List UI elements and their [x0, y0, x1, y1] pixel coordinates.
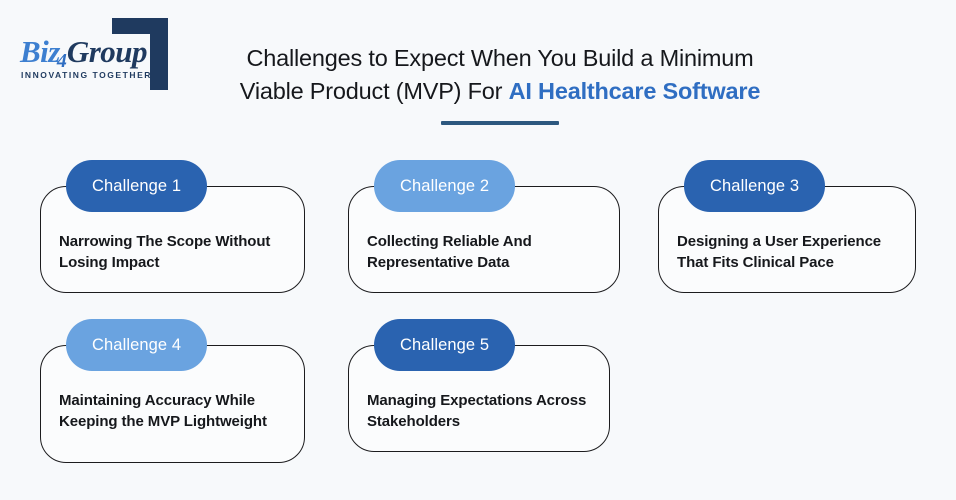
challenge-card-text: Designing a User Experience That Fits Cl…	[677, 231, 899, 274]
logo-tagline: INNOVATING TOGETHER	[21, 70, 152, 80]
logo-text-four: 4	[57, 50, 67, 72]
challenge-card[interactable]: Challenge 5 Managing Expectations Across…	[348, 345, 610, 452]
logo-text-biz: Biz	[20, 34, 60, 69]
challenge-card[interactable]: Challenge 3 Designing a User Experience …	[658, 186, 916, 293]
challenge-card[interactable]: Challenge 4 Maintaining Accuracy While K…	[40, 345, 305, 463]
challenge-card-text: Managing Expectations Across Stakeholder…	[367, 390, 593, 433]
challenge-badge: Challenge 1	[66, 160, 207, 212]
logo-text-group: Group	[67, 34, 147, 69]
logo-wordmark: Biz4Group	[20, 36, 140, 67]
challenge-badge: Challenge 2	[374, 160, 515, 212]
challenge-card-text: Maintaining Accuracy While Keeping the M…	[59, 390, 288, 433]
challenge-badge: Challenge 3	[684, 160, 825, 212]
challenge-card-text: Narrowing The Scope Without Losing Impac…	[59, 231, 288, 274]
challenge-card[interactable]: Challenge 2 Collecting Reliable And Repr…	[348, 186, 620, 293]
challenge-card-text: Collecting Reliable And Representative D…	[367, 231, 603, 274]
challenge-card[interactable]: Challenge 1 Narrowing The Scope Without …	[40, 186, 305, 293]
challenge-badge: Challenge 5	[374, 319, 515, 371]
challenge-badge: Challenge 4	[66, 319, 207, 371]
